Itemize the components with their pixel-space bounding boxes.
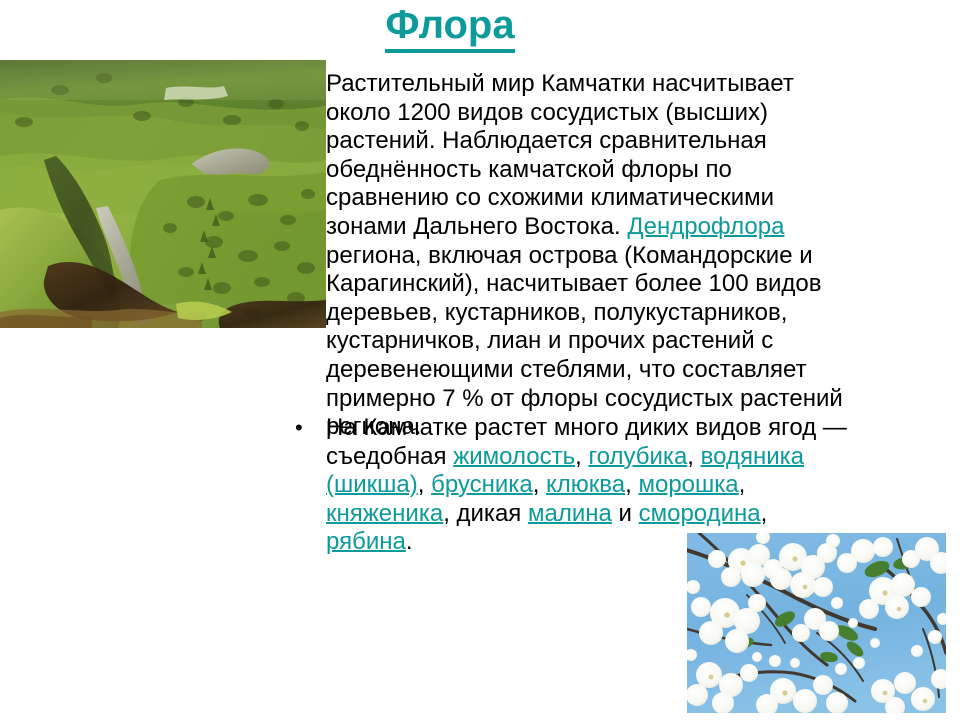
sep-3: , xyxy=(418,471,431,498)
bullet-marker-icon: • xyxy=(291,414,326,443)
link-brusnika[interactable]: брусника xyxy=(431,471,533,498)
sep-4: , xyxy=(533,471,546,498)
link-smorodina[interactable]: смородина xyxy=(639,500,761,527)
white-blossom-photo xyxy=(687,533,946,713)
link-klyukva[interactable]: клюква xyxy=(546,471,625,498)
link-moroshka[interactable]: морошка xyxy=(638,471,738,498)
link-golubika[interactable]: голубика xyxy=(588,443,687,470)
valley-illustration xyxy=(0,60,326,328)
blossom-illustration xyxy=(687,533,946,713)
bullet-tail-text: . xyxy=(406,528,413,555)
link-knyazhenika[interactable]: княженика xyxy=(326,500,443,527)
link-dendroflora[interactable]: Дендрофлора xyxy=(627,213,784,240)
sep-6: , xyxy=(739,471,746,498)
link-malina[interactable]: малина xyxy=(528,500,612,527)
sep-7: и xyxy=(612,500,639,527)
page-title-text: Флора xyxy=(385,2,514,53)
sep-2: , xyxy=(687,443,700,470)
link-zhimolost[interactable]: жимолость xyxy=(453,443,575,470)
bullet-mid-text: , дикая xyxy=(443,500,528,527)
paragraph-text: Растительный мир Камчатки насчитывает ок… xyxy=(326,70,858,442)
sep-5: , xyxy=(625,471,638,498)
sep-1: , xyxy=(575,443,588,470)
kamchatka-valley-photo xyxy=(0,60,326,328)
flora-description-paragraph: Растительный мир Камчатки насчитывает ок… xyxy=(326,70,858,442)
sep-8: , xyxy=(761,500,768,527)
paragraph-part-2: региона, включая острова (Командорские и… xyxy=(326,242,843,441)
page-title: Флора xyxy=(330,2,570,53)
link-ryabina[interactable]: рябина xyxy=(326,528,406,555)
slide-canvas: Флора xyxy=(0,0,960,720)
